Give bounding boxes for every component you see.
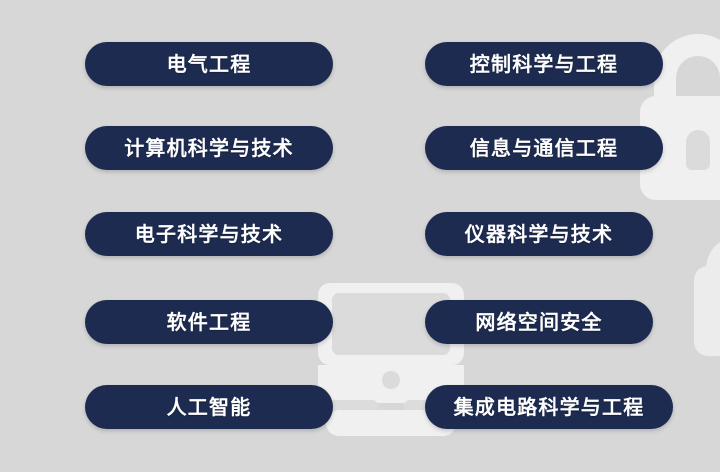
pill-label: 仪器科学与技术 [465,224,613,244]
discipline-pill-software-engineering[interactable]: 软件工程 [85,300,333,344]
discipline-pill-instrument-science[interactable]: 仪器科学与技术 [425,212,653,256]
discipline-pill-control-science[interactable]: 控制科学与工程 [425,42,663,86]
pill-label: 集成电路科学与工程 [454,397,645,417]
pill-label: 软件工程 [167,312,252,332]
pill-label: 计算机科学与技术 [124,138,294,158]
pill-label: 人工智能 [167,397,252,417]
discipline-pill-integrated-circuit[interactable]: 集成电路科学与工程 [425,385,673,429]
discipline-pill-electronic-science[interactable]: 电子科学与技术 [85,212,333,256]
discipline-pill-artificial-intelligence[interactable]: 人工智能 [85,385,333,429]
discipline-pill-electrical-engineering[interactable]: 电气工程 [85,42,333,86]
pill-layer: 电气工程 计算机科学与技术 电子科学与技术 软件工程 人工智能 控制科学与工程 … [0,0,720,472]
pill-label: 电气工程 [167,54,252,74]
pill-label: 信息与通信工程 [470,138,618,158]
pill-label: 电子科学与技术 [135,224,283,244]
discipline-pill-information-communication[interactable]: 信息与通信工程 [425,126,663,170]
discipline-tag-board: 电气工程 计算机科学与技术 电子科学与技术 软件工程 人工智能 控制科学与工程 … [0,0,720,472]
pill-label: 控制科学与工程 [470,54,618,74]
pill-label: 网络空间安全 [475,312,602,332]
discipline-pill-computer-science[interactable]: 计算机科学与技术 [85,126,333,170]
discipline-pill-cyberspace-security[interactable]: 网络空间安全 [425,300,653,344]
